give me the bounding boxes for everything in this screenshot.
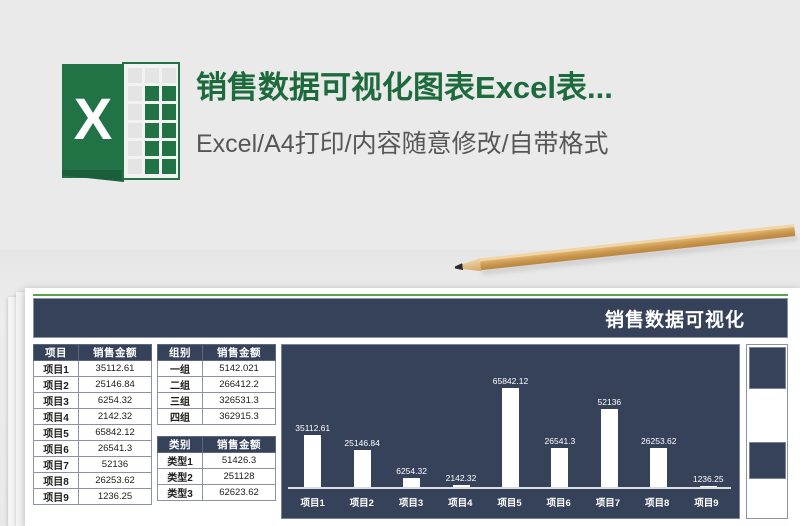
cell-label: 项目4	[34, 409, 79, 425]
chart-x-label: 项目7	[584, 495, 633, 509]
chart-bar-value-label: 26253.62	[641, 436, 676, 446]
table-row[interactable]: 项目8 26253.62	[34, 473, 152, 489]
table-row[interactable]: 项目7 52136	[34, 457, 152, 473]
category-table: 类别 销售金额 类型1 51426.3 类型2 251128 类型3	[157, 436, 276, 501]
cell-value: 62623.62	[203, 485, 276, 501]
cell-label: 类型3	[158, 485, 203, 501]
cell-label: 一组	[158, 361, 203, 377]
banner-text-block: 销售数据可视化图表Excel表... Excel/A4打印/内容随意修改/自带格…	[196, 66, 776, 166]
cell-label: 项目8	[34, 473, 79, 489]
project-table-column: 项目 销售金额 项目1 35112.61 项目2 25146.84 项目3	[33, 344, 151, 526]
chart-bar[interactable]	[601, 409, 618, 488]
table-row[interactable]: 类型3 62623.62	[158, 485, 276, 501]
cell-label: 项目5	[34, 425, 79, 441]
cell-value: 65842.12	[79, 425, 152, 441]
chart-bar[interactable]	[304, 435, 321, 488]
cell-value: 51426.3	[203, 453, 276, 469]
cell-label: 类型2	[158, 469, 203, 485]
chart-bar[interactable]	[354, 450, 371, 488]
chart-bar-value-label: 2142.32	[446, 473, 477, 483]
cell-value: 25146.84	[79, 377, 152, 393]
chart-bar-value-label: 65842.12	[493, 376, 528, 386]
promo-banner: X 销售数据可视化图表Excel表... Excel/A4打印/内容随意修改/自…	[0, 0, 800, 250]
column-header-amount: 销售金额	[203, 345, 276, 361]
group-table: 组别 销售金额 一组 5142.021 二组 266412.2 三组	[157, 344, 276, 425]
cell-value: 326531.3	[203, 393, 276, 409]
side-panel-column	[746, 344, 788, 526]
chart-bar-slot: 35112.61	[288, 351, 337, 488]
chart-bars: 35112.6125146.846254.322142.3265842.1226…	[288, 351, 733, 488]
cell-label: 类型1	[158, 453, 203, 469]
excel-logo-fold	[62, 170, 124, 182]
cell-value: 2142.32	[79, 409, 152, 425]
table-row[interactable]: 二组 266412.2	[158, 377, 276, 393]
cell-value: 26253.62	[79, 473, 152, 489]
chart-x-label: 项目3	[387, 495, 436, 509]
chart-bar-slot: 26541.3	[535, 351, 584, 488]
chart-x-label: 项目5	[485, 495, 534, 509]
cell-label: 项目9	[34, 489, 79, 505]
chart-x-axis	[288, 487, 731, 489]
chart-bar-value-label: 1236.25	[693, 474, 724, 484]
chart-bar-slot: 52136	[585, 351, 634, 488]
banner-subtitle: Excel/A4打印/内容随意修改/自带格式	[196, 122, 776, 166]
table-row[interactable]: 一组 5142.021	[158, 361, 276, 377]
chart-bar-value-label: 6254.32	[396, 466, 427, 476]
cell-label: 项目6	[34, 441, 79, 457]
excel-logo-icon: X	[62, 62, 180, 180]
cell-value: 5142.021	[203, 361, 276, 377]
chart-bar-value-label: 35112.61	[295, 423, 330, 433]
cell-label: 项目7	[34, 457, 79, 473]
cell-label: 四组	[158, 409, 203, 425]
table-row[interactable]: 类型1 51426.3	[158, 453, 276, 469]
chart-bar-slot: 1236.25	[684, 351, 733, 488]
accent-line	[33, 294, 788, 296]
cell-value: 35112.61	[79, 361, 152, 377]
document-title-bar: 销售数据可视化	[33, 298, 788, 338]
excel-logo-letter: X	[62, 80, 124, 160]
column-header-amount: 销售金额	[203, 437, 276, 453]
cell-label: 项目2	[34, 377, 79, 393]
table-header-row: 项目 销售金额	[34, 345, 152, 361]
chart-x-tick-labels: 项目1项目2项目3项目4项目5项目6项目7项目8项目9	[288, 492, 731, 512]
cell-value: 6254.32	[79, 393, 152, 409]
chart-x-label: 项目9	[682, 495, 731, 509]
cell-label: 项目3	[34, 393, 79, 409]
cell-value: 266412.2	[203, 377, 276, 393]
chart-bar-slot: 2142.32	[437, 351, 486, 488]
cell-value: 1236.25	[79, 489, 152, 505]
table-row[interactable]: 项目5 65842.12	[34, 425, 152, 441]
cell-value: 251128	[203, 469, 276, 485]
table-header-row: 类别 销售金额	[158, 437, 276, 453]
document-body: 项目 销售金额 项目1 35112.61 项目2 25146.84 项目3	[33, 344, 788, 526]
group-category-column: 组别 销售金额 一组 5142.021 二组 266412.2 三组	[157, 344, 275, 526]
side-panel	[746, 344, 788, 519]
chart-bar[interactable]	[502, 388, 519, 488]
column-header-group: 组别	[158, 345, 203, 361]
cell-label: 三组	[158, 393, 203, 409]
table-header-row: 组别 销售金额	[158, 345, 276, 361]
chart-plot-area: 35112.6125146.846254.322142.3265842.1226…	[288, 351, 733, 488]
table-row[interactable]: 项目6 26541.3	[34, 441, 152, 457]
cell-label: 二组	[158, 377, 203, 393]
table-row[interactable]: 项目1 35112.61	[34, 361, 152, 377]
side-block-bottom	[749, 442, 786, 479]
excel-logo-grid	[128, 68, 176, 174]
column-header-category: 类别	[158, 437, 203, 453]
chart-bar-slot: 26253.62	[634, 351, 683, 488]
project-table: 项目 销售金额 项目1 35112.61 项目2 25146.84 项目3	[33, 344, 152, 505]
chart-bar-value-label: 25146.84	[344, 438, 379, 448]
chart-x-label: 项目8	[633, 495, 682, 509]
column-header-amount: 销售金额	[79, 345, 152, 361]
table-row[interactable]: 项目3 6254.32	[34, 393, 152, 409]
table-spacer	[157, 425, 275, 436]
spreadsheet-sheet: 销售数据可视化 项目 销售金额 项目1 35112.61 项目2	[25, 288, 800, 526]
cell-label: 项目1	[34, 361, 79, 377]
table-row[interactable]: 三组 326531.3	[158, 393, 276, 409]
cell-value: 26541.3	[79, 441, 152, 457]
chart-x-label: 项目2	[337, 495, 386, 509]
cell-value: 362915.3	[203, 409, 276, 425]
cell-value: 52136	[79, 457, 152, 473]
chart-x-label: 项目4	[436, 495, 485, 509]
side-block-top	[749, 347, 786, 389]
document-title: 销售数据可视化	[605, 305, 745, 332]
table-row[interactable]: 项目2 25146.84	[34, 377, 152, 393]
chart-x-label: 项目1	[288, 495, 337, 509]
chart-column: 35112.6125146.846254.322142.3265842.1226…	[281, 344, 740, 526]
table-row[interactable]: 类型2 251128	[158, 469, 276, 485]
column-header-item: 项目	[34, 345, 79, 361]
chart-bar[interactable]	[650, 448, 667, 488]
chart-bar-value-label: 52136	[598, 397, 622, 407]
chart-bar-slot: 6254.32	[387, 351, 436, 488]
table-row[interactable]: 四组 362915.3	[158, 409, 276, 425]
chart-bar-slot: 25146.84	[338, 351, 387, 488]
banner-title: 销售数据可视化图表Excel表...	[196, 66, 776, 110]
chart-bar-value-label: 26541.3	[545, 436, 576, 446]
sales-bar-chart[interactable]: 35112.6125146.846254.322142.3265842.1226…	[281, 344, 740, 519]
chart-x-label: 项目6	[534, 495, 583, 509]
table-row[interactable]: 项目4 2142.32	[34, 409, 152, 425]
chart-bar[interactable]	[551, 448, 568, 488]
chart-bar-slot: 65842.12	[486, 351, 535, 488]
table-row[interactable]: 项目9 1236.25	[34, 489, 152, 505]
